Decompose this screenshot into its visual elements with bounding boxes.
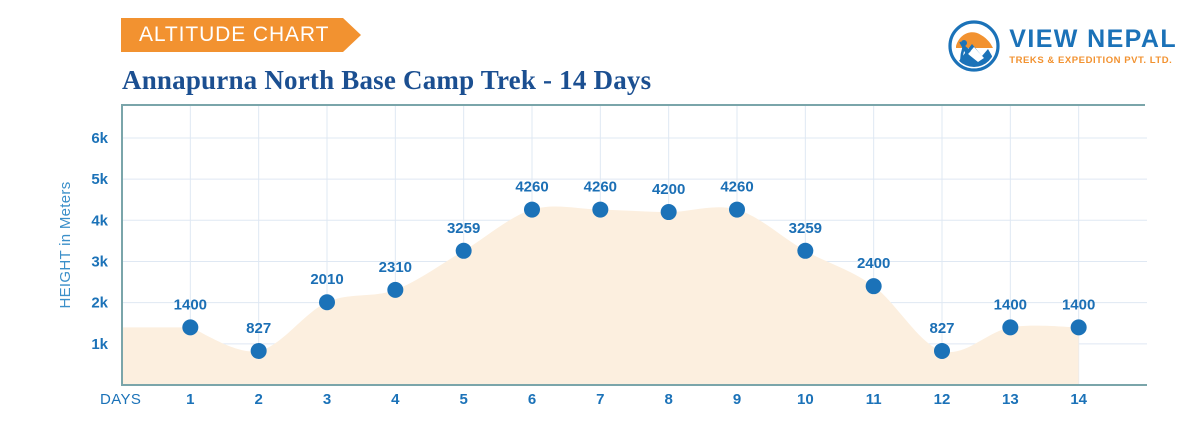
svg-text:3259: 3259 (789, 220, 822, 237)
svg-text:4260: 4260 (584, 179, 617, 196)
svg-text:9: 9 (733, 391, 741, 408)
svg-text:4260: 4260 (720, 179, 753, 196)
x-axis-title: DAYS (100, 391, 141, 408)
svg-text:1400: 1400 (994, 296, 1027, 313)
svg-text:3259: 3259 (447, 220, 480, 237)
svg-text:10: 10 (797, 391, 814, 408)
svg-text:4260: 4260 (515, 179, 548, 196)
svg-text:3: 3 (323, 391, 331, 408)
y-axis-title: HEIGHT in Meters (57, 181, 74, 308)
altitude-area-fill (122, 206, 1079, 385)
svg-text:3k: 3k (91, 253, 108, 270)
svg-text:4: 4 (391, 391, 400, 408)
svg-text:5k: 5k (91, 171, 108, 188)
svg-text:14: 14 (1070, 391, 1087, 408)
svg-text:6k: 6k (91, 130, 108, 147)
svg-text:12: 12 (934, 391, 951, 408)
svg-text:1k: 1k (91, 336, 108, 353)
svg-text:13: 13 (1002, 391, 1019, 408)
svg-text:1400: 1400 (1062, 296, 1095, 313)
x-axis-ticks: 1234567891011121314 (186, 391, 1088, 408)
svg-text:5: 5 (459, 391, 467, 408)
svg-text:11: 11 (866, 391, 882, 408)
svg-text:1: 1 (186, 391, 194, 408)
svg-text:2400: 2400 (857, 255, 890, 272)
svg-text:2k: 2k (91, 295, 108, 312)
svg-text:4200: 4200 (652, 181, 685, 198)
svg-text:827: 827 (929, 320, 954, 337)
svg-text:7: 7 (596, 391, 604, 408)
svg-text:4k: 4k (91, 212, 108, 229)
svg-text:6: 6 (528, 391, 536, 408)
svg-text:2: 2 (254, 391, 262, 408)
altitude-chart: 1k2k3k4k5k6k HEIGHT in Meters DAYS 12345… (0, 0, 1201, 433)
svg-text:1400: 1400 (174, 296, 207, 313)
chart-svg: 1k2k3k4k5k6k HEIGHT in Meters DAYS 12345… (0, 0, 1201, 433)
svg-text:827: 827 (246, 320, 271, 337)
svg-text:8: 8 (664, 391, 672, 408)
y-axis-ticks: 1k2k3k4k5k6k (91, 130, 108, 353)
svg-text:2010: 2010 (310, 271, 343, 288)
svg-text:2310: 2310 (379, 259, 412, 276)
